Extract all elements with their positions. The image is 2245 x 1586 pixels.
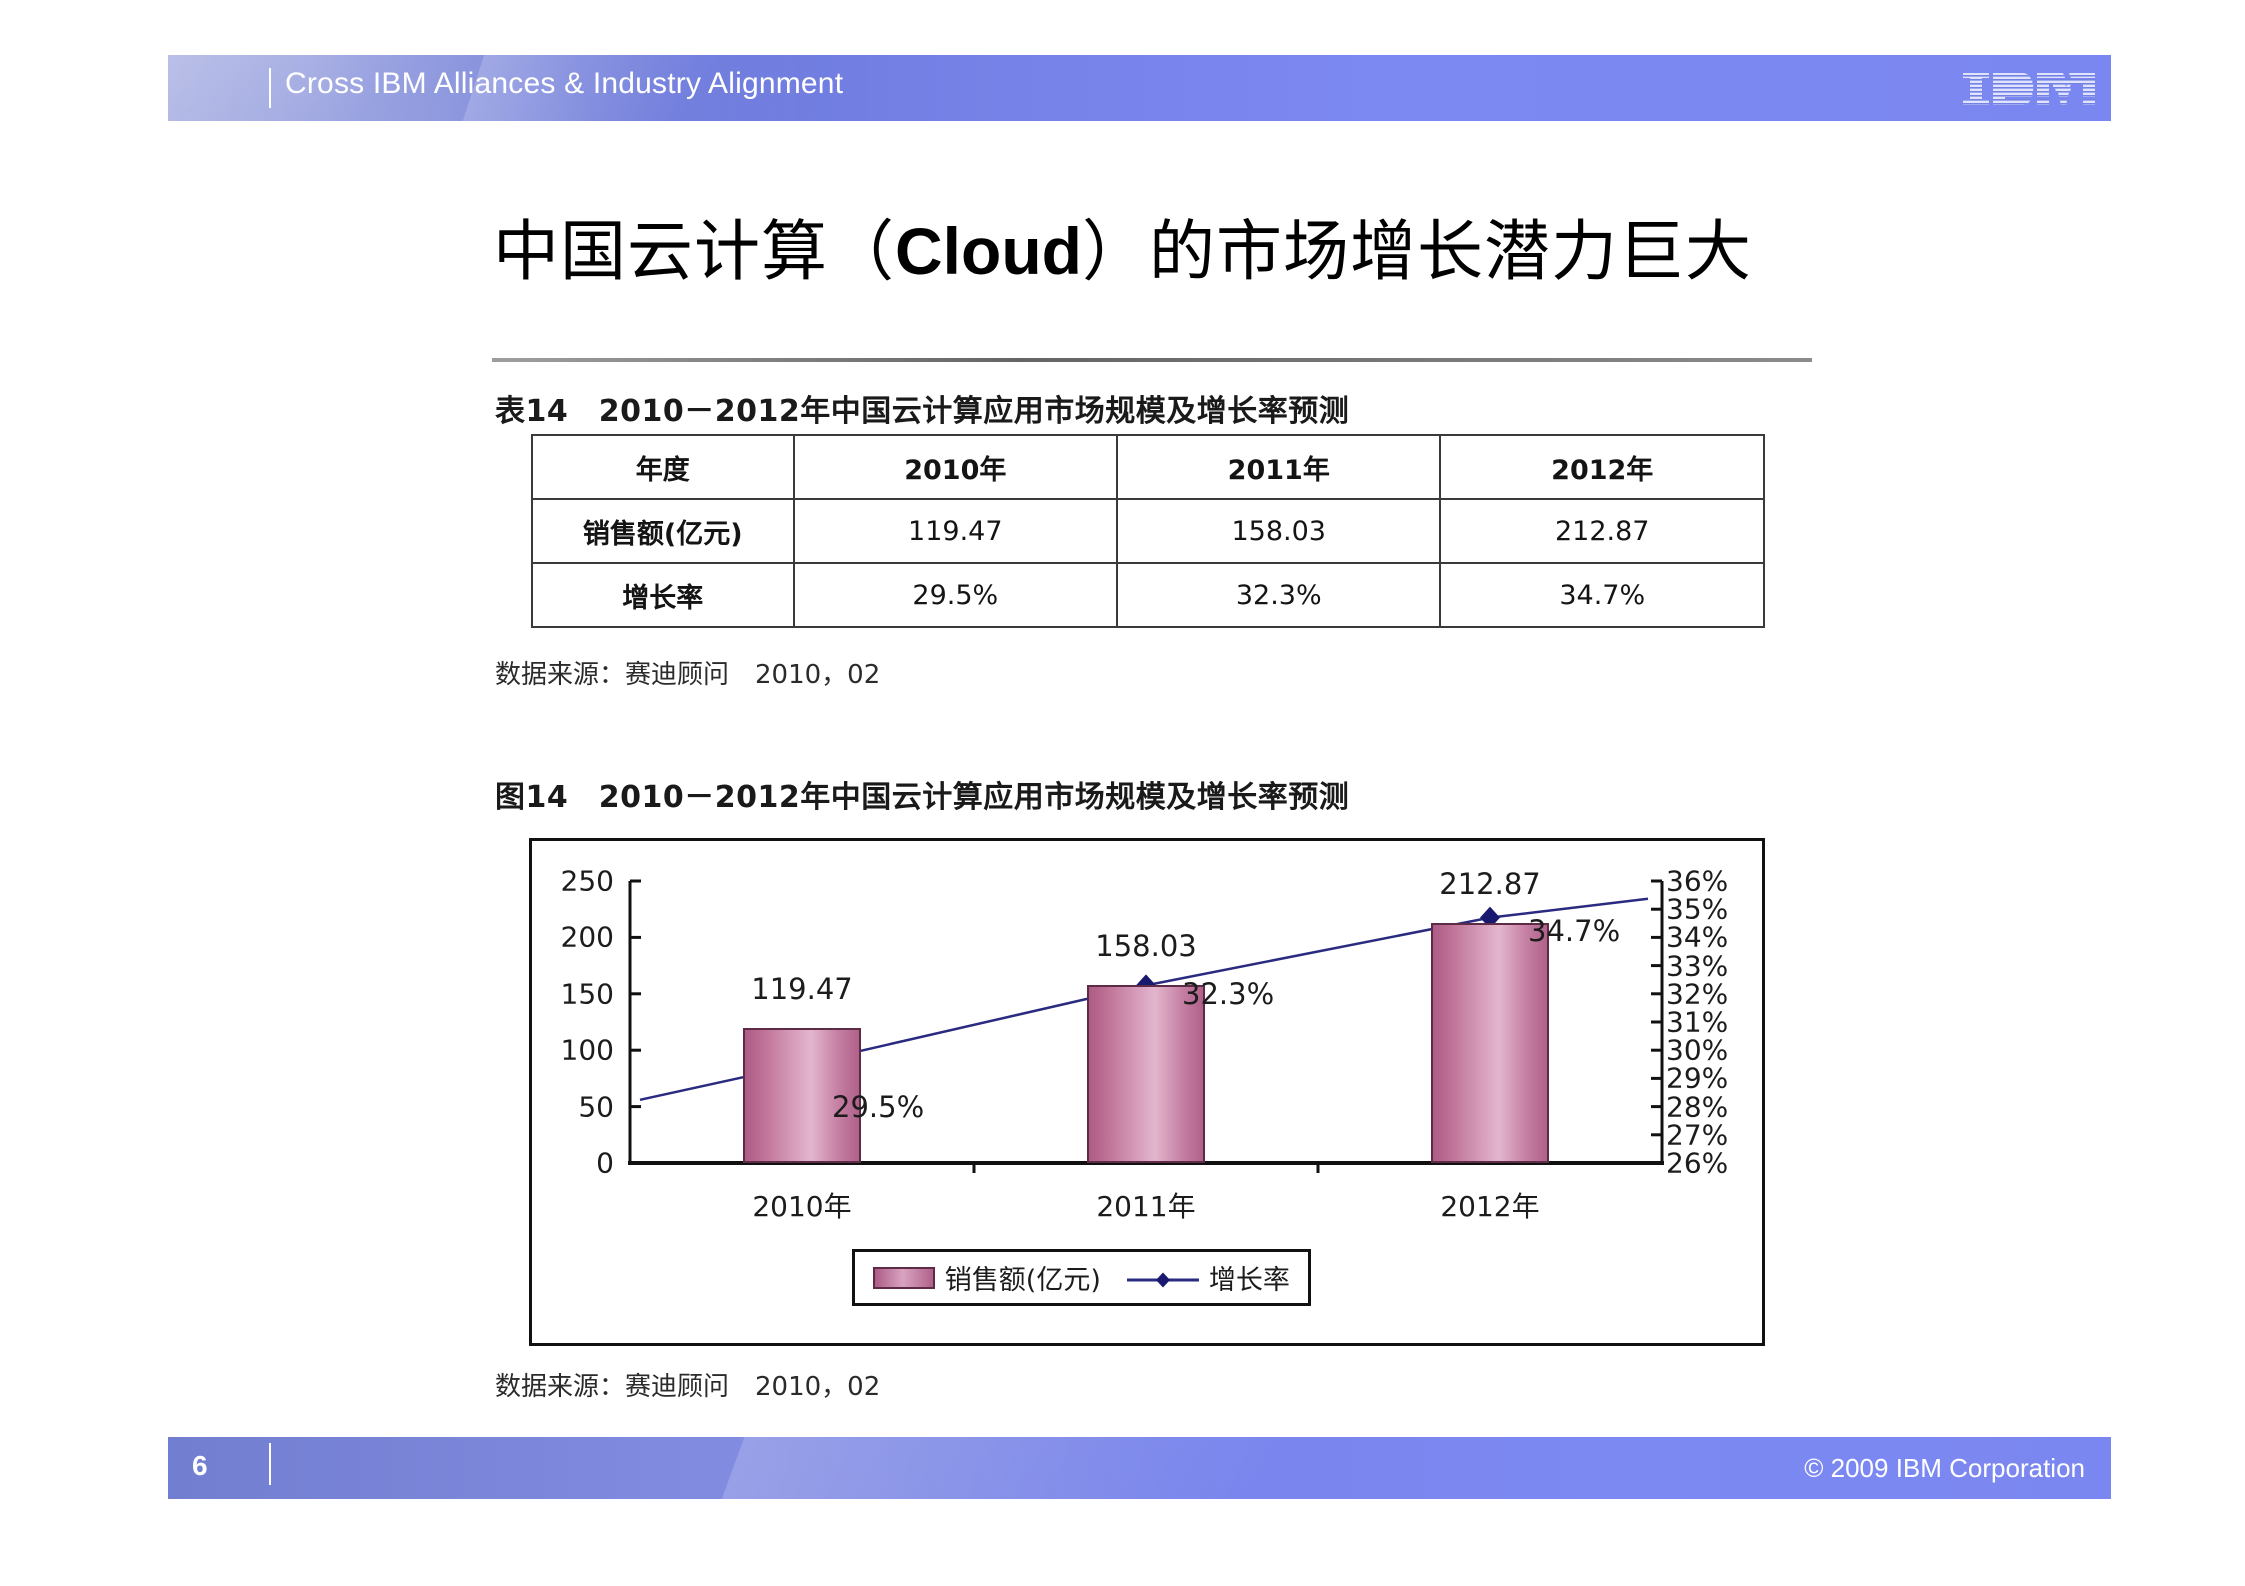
header-divider [269, 68, 271, 108]
left-axis-tick-label: 100 [544, 1034, 614, 1067]
table-cell: 212.87 [1440, 499, 1764, 563]
ibm-logo-icon [1961, 69, 2099, 109]
footer-sheen-decoration [701, 1437, 1656, 1499]
figure-source-note: 数据来源：赛迪顾问 2010，02 [495, 1366, 880, 1403]
chart-bar [1431, 923, 1549, 1163]
left-axis-tick-label: 250 [544, 865, 614, 898]
x-axis-tick-label: 2011年 [1096, 1185, 1195, 1225]
table-row-label: 销售额(亿元) [532, 499, 794, 563]
scanned-figure-region: 表14 2010－2012年中国云计算应用市场规模及增长率预测 年度 2010年… [492, 358, 1812, 1426]
left-axis-labels: 250200150100500 [538, 841, 614, 1343]
table-cell: 119.47 [794, 499, 1117, 563]
page-title-prefix: 中国云计算（ [493, 213, 895, 290]
bar-value-label: 158.03 [1095, 929, 1196, 963]
table-header-cell: 2012年 [1440, 435, 1764, 499]
market-data-table: 年度 2010年 2011年 2012年 销售额(亿元) 119.47 158.… [531, 434, 1765, 628]
chart-container: 250200150100500 36%35%34%33%32%31%30%29%… [529, 838, 1765, 1346]
chart-plot-area: 250200150100500 36%35%34%33%32%31%30%29%… [532, 841, 1762, 1343]
growth-rate-label: 29.5% [832, 1090, 924, 1124]
table-source-note: 数据来源：赛迪顾问 2010，02 [495, 654, 880, 691]
table-row: 销售额(亿元) 119.47 158.03 212.87 [532, 499, 1764, 563]
chart-bar [1087, 985, 1205, 1163]
legend-label: 增长率 [1209, 1258, 1290, 1297]
page-number: 6 [192, 1450, 208, 1482]
bar-value-label: 212.87 [1439, 867, 1540, 901]
table-cell: 158.03 [1117, 499, 1440, 563]
right-axis-tick-label: 26% [1666, 1147, 1750, 1180]
footer-divider [269, 1443, 271, 1485]
table-header-cell: 2010年 [794, 435, 1117, 499]
growth-rate-label: 34.7% [1528, 914, 1620, 948]
left-axis-tick-label: 50 [544, 1090, 614, 1123]
footer-banner: 6 © 2009 IBM Corporation [168, 1437, 2111, 1499]
table-row-label: 增长率 [532, 563, 794, 627]
left-axis-tick-label: 0 [544, 1147, 614, 1180]
table-cell: 32.3% [1117, 563, 1440, 627]
page-title-latin: Cloud [895, 214, 1082, 288]
x-axis-tick-label: 2010年 [752, 1185, 851, 1225]
page-title: 中国云计算（Cloud）的市场增长潜力巨大 [0, 218, 2245, 285]
table-row: 增长率 29.5% 32.3% 34.7% [532, 563, 1764, 627]
table-header-cell: 年度 [532, 435, 794, 499]
legend-swatch-icon [873, 1267, 935, 1289]
legend-item-growth: 增长率 [1127, 1258, 1290, 1297]
table-header-row: 年度 2010年 2011年 2012年 [532, 435, 1764, 499]
left-axis-tick-label: 200 [544, 921, 614, 954]
figure-caption: 图14 2010－2012年中国云计算应用市场规模及增长率预测 [495, 772, 1349, 816]
growth-rate-label: 32.3% [1182, 977, 1274, 1011]
header-title: Cross IBM Alliances & Industry Alignment [285, 67, 843, 101]
copyright-notice: © 2009 IBM Corporation [1804, 1453, 2085, 1484]
table-cell: 29.5% [794, 563, 1117, 627]
table-header-cell: 2011年 [1117, 435, 1440, 499]
legend-label: 销售额(亿元) [945, 1258, 1101, 1297]
left-axis-tick-label: 150 [544, 977, 614, 1010]
table-cell: 34.7% [1440, 563, 1764, 627]
chart-legend: 销售额(亿元) 增长率 [852, 1249, 1311, 1306]
bar-value-label: 119.47 [751, 972, 852, 1006]
scan-top-rule [492, 358, 1812, 362]
table-caption: 表14 2010－2012年中国云计算应用市场规模及增长率预测 [495, 386, 1349, 430]
page-title-suffix: ）的市场增长潜力巨大 [1082, 213, 1752, 290]
legend-line-icon [1127, 1267, 1199, 1289]
header-banner: Cross IBM Alliances & Industry Alignment [168, 55, 2111, 121]
legend-item-sales: 销售额(亿元) [873, 1258, 1101, 1297]
right-axis-labels: 36%35%34%33%32%31%30%29%28%27%26% [1666, 841, 1756, 1343]
x-axis-tick-label: 2012年 [1440, 1185, 1539, 1225]
